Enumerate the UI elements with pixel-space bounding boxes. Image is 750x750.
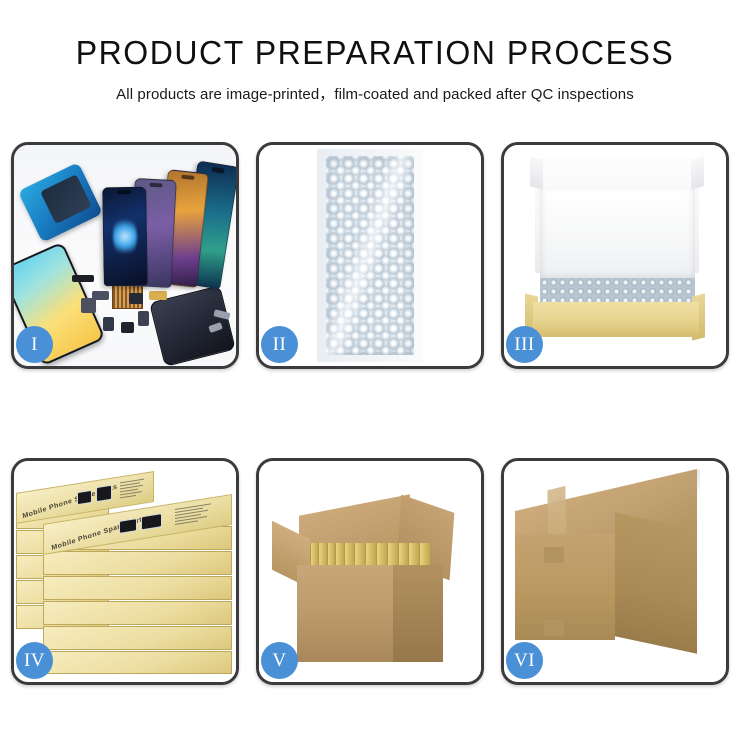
stacked-box <box>43 626 232 650</box>
box-screen-thumb <box>141 513 162 530</box>
carton-notch <box>544 620 564 635</box>
carton-front-face <box>515 534 615 640</box>
step-badge-2: II <box>261 326 298 363</box>
carton-notch <box>544 547 564 562</box>
box-screen-thumb <box>77 490 92 506</box>
carton-body <box>297 565 444 662</box>
bubble-wrap-icon <box>326 156 415 355</box>
small-part-icon <box>129 293 142 304</box>
page-title: PRODUCT PREPARATION PROCESS <box>11 34 739 72</box>
step-panel-5[interactable]: V <box>256 458 484 685</box>
box-spec-lines <box>120 479 147 501</box>
small-part-icon <box>138 311 149 326</box>
box-screen-thumb <box>119 518 138 534</box>
step-panel-3[interactable]: III <box>501 142 729 369</box>
stacked-box <box>43 601 232 625</box>
step-badge-6: VI <box>506 642 543 679</box>
box-spec-lines <box>175 503 216 528</box>
step-panel-2[interactable]: II <box>256 142 484 369</box>
blue-screen-part-icon <box>18 162 103 243</box>
step-panel-4[interactable]: Mobile Phone Spare Parts Mobile Phone Sp… <box>11 458 239 685</box>
step-badge-3: III <box>506 326 543 363</box>
box-base-icon <box>533 302 700 337</box>
small-part-icon <box>103 317 114 330</box>
flex-cable-icon <box>149 291 167 300</box>
stacked-box <box>43 651 232 675</box>
page-subtitle: All products are image-printed，film-coat… <box>0 83 750 104</box>
step-badge-1: I <box>16 326 53 363</box>
step-badge-5: V <box>261 642 298 679</box>
box-screen-thumb <box>96 485 112 502</box>
step-panel-1[interactable]: I <box>11 142 239 369</box>
foam-insert-icon <box>540 189 695 282</box>
step-panel-6[interactable]: VI <box>501 458 729 685</box>
phone-screen-icon <box>102 187 147 287</box>
stacked-box <box>43 576 232 600</box>
small-part-icon <box>72 275 94 282</box>
small-part-icon <box>92 291 110 300</box>
small-part-icon <box>81 298 97 313</box>
product-preparation-process-page: PRODUCT PREPARATION PROCESS All products… <box>0 0 750 750</box>
phone-fan-group <box>103 163 232 287</box>
carton-side-face <box>615 512 697 653</box>
small-part-icon <box>121 322 134 333</box>
page-header: PRODUCT PREPARATION PROCESS All products… <box>0 0 750 104</box>
stacked-box <box>43 551 232 575</box>
step-badge-4: IV <box>16 642 53 679</box>
process-steps-grid: I II III <box>11 142 739 685</box>
